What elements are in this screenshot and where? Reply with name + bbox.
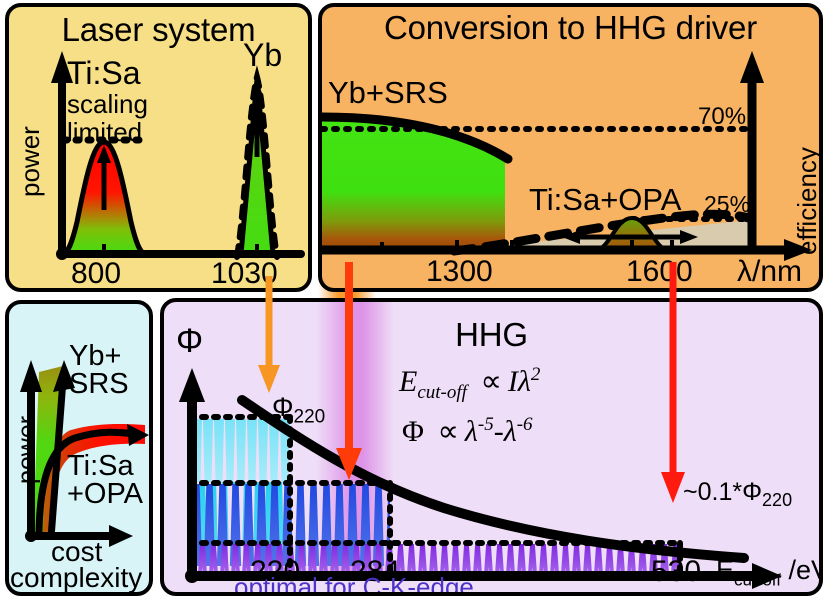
laser-y-axis-label-text: power [15, 126, 46, 197]
efficiency-70-label: 70% [698, 103, 746, 131]
formula-cutoff-rhs: Iλ [508, 365, 531, 398]
laser-xtick-1030: 1030 [211, 257, 278, 291]
panel-cost-complexity: power Yb+ SRS Ti:Sa +OPA cost complexity [5, 300, 153, 596]
conversion-x-axis-label: λ/nm [737, 255, 802, 289]
formula-cutoff-relation: ∝ [480, 365, 501, 398]
yb-label: Yb [243, 37, 282, 74]
cost-y-axis-label-text: power [13, 416, 42, 484]
formula-flux-exponent-2: -6 [517, 414, 533, 435]
formula-flux-relation: ∝ [437, 415, 458, 448]
conversion-xtick-1300: 1300 [426, 255, 493, 289]
hhg-xtick-530: 530 [651, 555, 701, 589]
formula-cutoff-base: E [399, 365, 417, 398]
yb-srs-cost-label-line-2: SRS [69, 368, 129, 401]
tisa-note-line-1: scaling [67, 89, 148, 120]
panel-conversion: Conversion to HHG driver [318, 3, 823, 292]
cost-x-axis-label-line-2: complexity [10, 562, 142, 594]
formula-flux-dash: - [494, 415, 504, 448]
conversion-plot [322, 7, 819, 288]
formula-cutoff: Ecut-off ∝Iλ2 [399, 364, 540, 404]
tisa-opa-label: Ti:Sa+OPA [529, 182, 681, 218]
efficiency-25-label: 25% [704, 191, 750, 218]
flux-low-prefix: ~0.1* [683, 478, 742, 506]
formula-cutoff-exponent: 2 [531, 364, 541, 385]
flux-220-base: Φ [272, 392, 294, 422]
laser-xtick-800: 800 [71, 257, 121, 291]
panel-hhg: HHG [160, 298, 823, 596]
laser-y-axis-label: power [15, 197, 86, 228]
flux-220-annotation: Φ220 [272, 392, 325, 428]
tisa-label: Ti:Sa [67, 55, 141, 92]
tisa-opa-cost-label-line-2: +OPA [67, 478, 143, 511]
hhg-x-axis-label-unit: /eV [788, 555, 823, 585]
conversion-y-axis-label-text: efficiency [792, 147, 823, 255]
formula-flux-term-2: λ [504, 415, 517, 448]
flux-low-subscript: 220 [762, 490, 792, 510]
flux-low-annotation: ~0.1*Φ220 [683, 478, 792, 511]
c-k-edge-annotation: optimal for C-K-edge [234, 572, 474, 596]
tisa-note-line-2: limited [67, 117, 142, 148]
hhg-x-axis-label: Ecut-off /eV [716, 555, 823, 590]
hhg-x-axis-label-base: E [716, 555, 734, 585]
formula-cutoff-subscript: cut-off [417, 382, 467, 403]
formula-flux-term-1: λ [465, 415, 478, 448]
formula-flux-base: Φ [402, 415, 424, 448]
flux-low-base: Φ [742, 478, 762, 506]
figure-root: Laser system [0, 0, 827, 599]
formula-flux: Φ ∝λ-5-λ-6 [402, 414, 533, 449]
flux-220-subscript: 220 [294, 406, 326, 427]
yb-srs-label: Yb+SRS [328, 75, 448, 111]
conversion-xtick-1600: 1600 [626, 255, 693, 289]
hhg-x-axis-label-subscript: cut-off [734, 570, 781, 589]
hhg-y-axis-label: Φ [176, 322, 203, 361]
panel-laser-system: Laser system [5, 3, 312, 292]
formula-flux-exponent-1: -5 [478, 414, 494, 435]
